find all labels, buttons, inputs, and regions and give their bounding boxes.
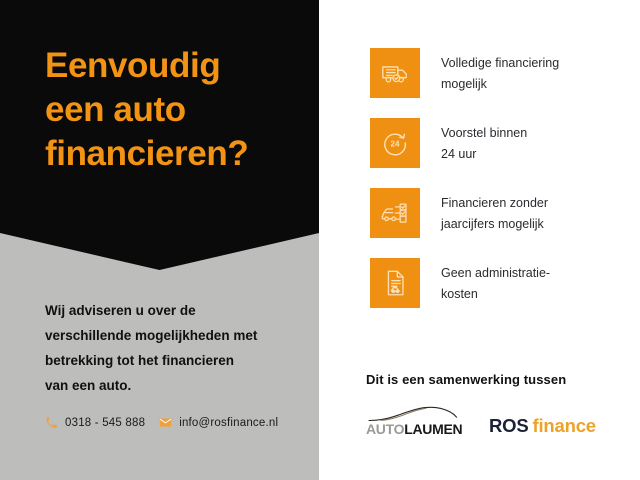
feature-item-no-annual-figures: Financieren zonder jaarcijfers mogelijk <box>370 188 632 238</box>
headline-line-3: financieren? <box>45 132 310 176</box>
phone-icon <box>45 416 58 429</box>
body-copy: Wij adviseren u over de verschillende mo… <box>45 298 295 398</box>
clock-24-hour-icon: 24 <box>380 128 410 158</box>
feature-icon-tile: 24 <box>370 118 420 168</box>
email-contact[interactable]: info@rosfinance.nl <box>159 416 278 429</box>
headline-line-2: een auto <box>45 88 310 132</box>
ros-word-finance: finance <box>533 415 596 436</box>
auto-laumen-logo: AUTOLAUMEN <box>366 405 458 437</box>
partnership-title: Dit is een samenwerking tussen <box>366 372 636 387</box>
clock-badge-text: 24 <box>391 139 400 148</box>
feature-4-line-1: Geen administratie- <box>441 263 550 284</box>
feature-label: Voorstel binnen 24 uur <box>441 118 527 165</box>
feature-icon-tile <box>370 48 420 98</box>
left-panel: Eenvoudig een auto financieren? Wij advi… <box>0 0 319 480</box>
feature-item-24h-proposal: 24 Voorstel binnen 24 uur <box>370 118 632 168</box>
feature-icon-tile <box>370 188 420 238</box>
feature-icon-tile <box>370 258 420 308</box>
feature-item-full-financing: Volledige financiering mogelijk <box>370 48 632 98</box>
advertisement-banner: Eenvoudig een auto financieren? Wij advi… <box>0 0 640 480</box>
feature-3-line-1: Financieren zonder <box>441 193 548 214</box>
email-address: info@rosfinance.nl <box>179 417 278 429</box>
auto-laumen-wordmark: AUTOLAUMEN <box>366 422 462 437</box>
partner-logo-row: AUTOLAUMEN ROSfinance <box>366 405 636 437</box>
feature-1-line-2: mogelijk <box>441 74 559 95</box>
document-car-icon <box>380 268 410 298</box>
feature-label: Financieren zonder jaarcijfers mogelijk <box>441 188 548 235</box>
car-silhouette-icon <box>368 405 458 422</box>
contact-row: 0318 - 545 888 info@rosfinance.nl <box>45 416 278 429</box>
body-line-3: betrekking tot het financieren <box>45 348 295 373</box>
car-checklist-icon <box>380 198 410 228</box>
feature-list: Volledige financiering mogelijk 24 Voors… <box>370 48 632 308</box>
feature-2-line-1: Voorstel binnen <box>441 123 527 144</box>
laumen-word-auto: AUTO <box>366 421 404 437</box>
feature-2-line-2: 24 uur <box>441 144 527 165</box>
envelope-icon <box>159 416 172 429</box>
delivery-truck-check-icon <box>380 58 410 88</box>
page-title: Eenvoudig een auto financieren? <box>45 44 310 176</box>
headline-line-1: Eenvoudig <box>45 44 310 88</box>
body-line-1: Wij adviseren u over de <box>45 298 295 323</box>
feature-3-line-2: jaarcijfers mogelijk <box>441 214 548 235</box>
feature-4-line-2: kosten <box>441 284 550 305</box>
feature-label: Volledige financiering mogelijk <box>441 48 559 95</box>
ros-finance-logo: ROSfinance <box>489 416 596 437</box>
feature-label: Geen administratie- kosten <box>441 258 550 305</box>
body-line-4: van een auto. <box>45 373 295 398</box>
partnership-section: Dit is een samenwerking tussen AUTOLAUME… <box>366 372 636 437</box>
laumen-word-laumen: LAUMEN <box>404 421 462 437</box>
phone-number: 0318 - 545 888 <box>65 417 145 429</box>
feature-1-line-1: Volledige financiering <box>441 53 559 74</box>
body-line-2: verschillende mogelijkheden met <box>45 323 295 348</box>
ros-word-ros: ROS <box>489 415 529 436</box>
feature-item-no-admin-costs: Geen administratie- kosten <box>370 258 632 308</box>
phone-contact[interactable]: 0318 - 545 888 <box>45 416 145 429</box>
